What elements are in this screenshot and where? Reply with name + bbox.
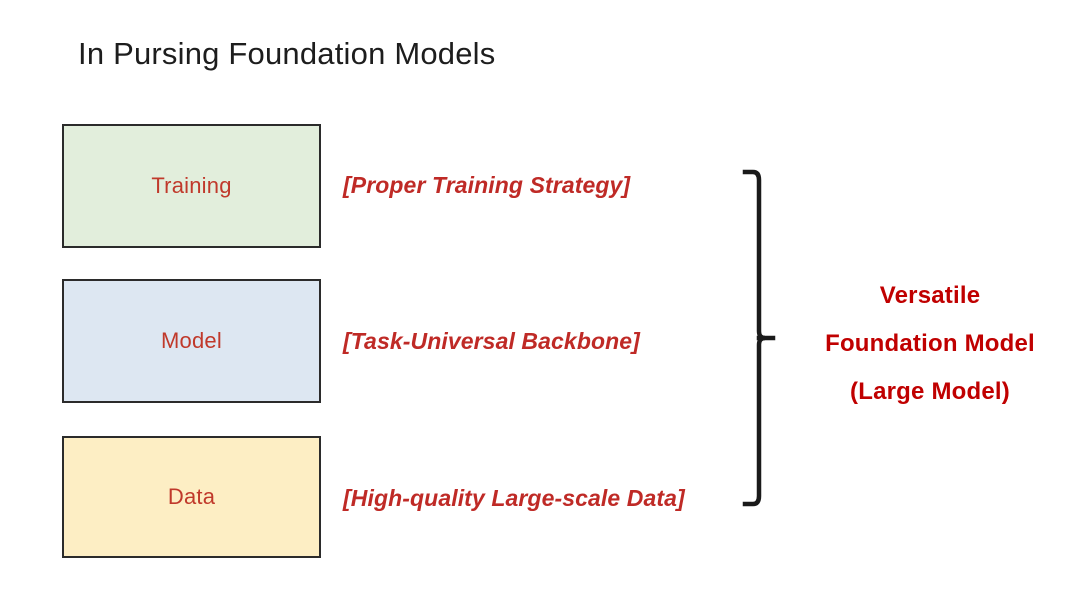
- outcome-line-2: Foundation Model: [790, 320, 1070, 368]
- pillar-box-data: Data: [62, 436, 321, 558]
- pillar-label-data: Data: [168, 484, 215, 510]
- pillar-box-training: Training: [62, 124, 321, 248]
- slide-canvas: In Pursing Foundation Models Training [P…: [0, 0, 1080, 608]
- curly-brace-icon: [740, 168, 780, 508]
- outcome-line-1: Versatile: [790, 272, 1070, 320]
- pillar-annotation-data: [High-quality Large-scale Data]: [343, 485, 685, 512]
- pillar-annotation-model: [Task-Universal Backbone]: [343, 328, 640, 355]
- pillar-box-model: Model: [62, 279, 321, 403]
- pillar-label-model: Model: [161, 328, 222, 354]
- outcome-block: Versatile Foundation Model (Large Model): [790, 272, 1070, 416]
- pillar-annotation-training: [Proper Training Strategy]: [343, 172, 630, 199]
- curly-brace-shape: [740, 168, 780, 508]
- outcome-line-3: (Large Model): [790, 368, 1070, 416]
- pillar-label-training: Training: [151, 173, 231, 199]
- page-title: In Pursing Foundation Models: [78, 36, 495, 72]
